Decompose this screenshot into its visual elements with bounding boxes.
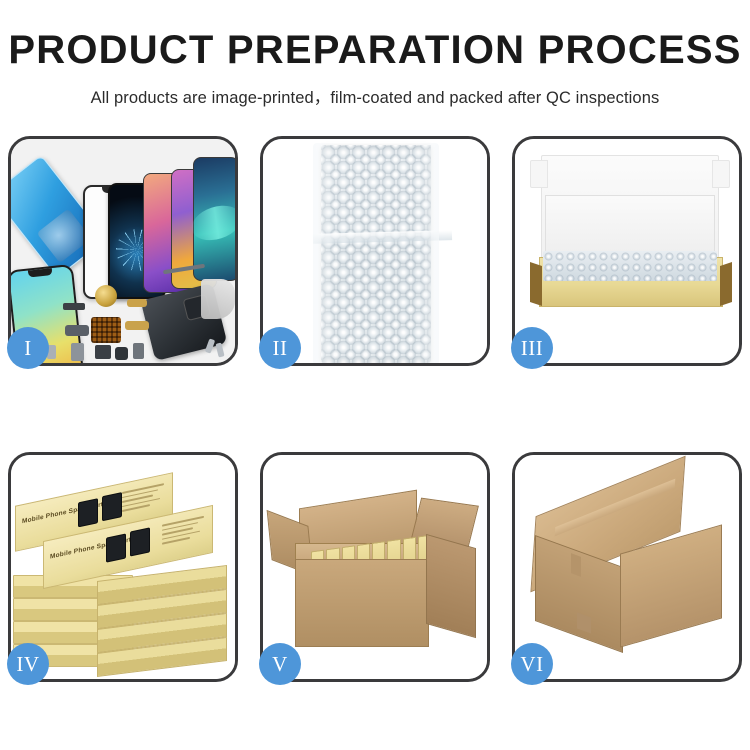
step-image-open-carton	[263, 455, 487, 679]
step-panel-1: I	[8, 136, 238, 366]
screw-2	[215, 342, 224, 357]
mesh-part	[91, 317, 121, 343]
spare-part-1	[63, 303, 85, 310]
step-badge-6: VI	[511, 643, 553, 685]
phone-teal	[193, 157, 235, 281]
tweezers-icon	[201, 279, 235, 319]
product-preparation-infographic: PRODUCT PREPARATION PROCESS All products…	[0, 0, 750, 750]
speaker-coil-part	[95, 285, 117, 307]
step-image-inner-box	[515, 139, 739, 363]
step-badge-1: I	[7, 327, 49, 369]
step-badge-3: III	[511, 327, 553, 369]
box-stack: Mobile Phone Spare Parts Mobile Phone Sp…	[11, 455, 235, 679]
box-artwork-thumb-1a	[78, 498, 98, 527]
step-panel-4: Mobile Phone Spare Parts Mobile Phone Sp…	[8, 452, 238, 682]
step-image-product-parts	[11, 139, 235, 363]
box-artwork-thumb-2b	[130, 527, 150, 556]
step-panel-3: III	[512, 136, 742, 366]
box-artwork-thumb-2a	[106, 533, 126, 562]
step-panel-6: VI	[512, 452, 742, 682]
step-image-sealed-carton	[515, 455, 739, 679]
step-panel-2: II	[260, 136, 490, 366]
box-spec-lines-1	[122, 483, 164, 518]
spare-part-5	[71, 343, 84, 361]
bubble-wrap-inside-box	[543, 251, 717, 281]
spare-part-2	[127, 299, 147, 307]
carton-side-face	[426, 534, 476, 638]
page-subtitle: All products are image-printed，film-coat…	[0, 84, 750, 108]
step-image-bubble-wrap	[263, 139, 487, 363]
header: PRODUCT PREPARATION PROCESS All products…	[0, 0, 750, 108]
sealed-carton-seam-top	[571, 553, 581, 577]
page-title: PRODUCT PREPARATION PROCESS	[0, 30, 750, 70]
spare-part-3	[65, 325, 89, 336]
box-spec-lines-2	[162, 516, 204, 551]
carton-front-face	[295, 559, 429, 647]
step-badge-4: IV	[7, 643, 49, 685]
spare-part-6	[95, 345, 111, 359]
steps-grid: I II III	[8, 136, 742, 682]
spare-part-4	[125, 321, 149, 330]
box-artwork-thumb-1b	[102, 492, 122, 521]
step-image-stacked-boxes: Mobile Phone Spare Parts Mobile Phone Sp…	[11, 455, 235, 679]
step-badge-2: II	[259, 327, 301, 369]
spare-part-7	[115, 347, 128, 360]
bubble-wrap-seal	[313, 143, 439, 363]
spare-part-8	[133, 343, 144, 359]
step-panel-5: V	[260, 452, 490, 682]
step-badge-5: V	[259, 643, 301, 685]
